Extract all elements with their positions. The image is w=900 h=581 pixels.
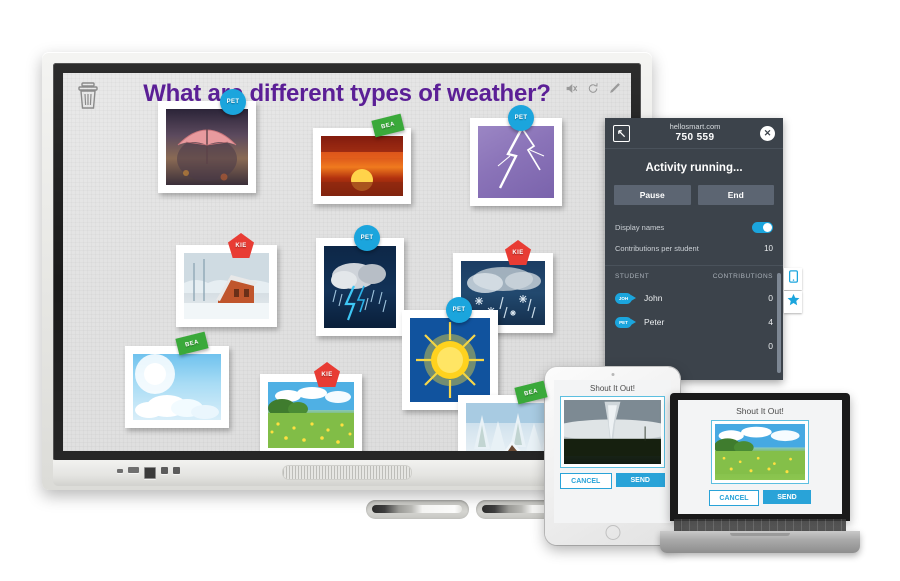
avatar: JOH xyxy=(615,293,632,304)
pen-slot-left[interactable] xyxy=(366,500,469,519)
photo-image xyxy=(268,382,354,448)
dialog-actions: CANCEL SEND xyxy=(560,473,665,489)
close-icon[interactable]: ✕ xyxy=(760,126,775,141)
whiteboard-screen[interactable]: What are different types of weather? xyxy=(63,73,631,451)
camera-icon xyxy=(611,373,614,376)
tablet-screen[interactable]: Shout It Out! CANCEL SEND xyxy=(554,380,671,523)
display-names-label: Display names xyxy=(615,223,664,232)
image-frame xyxy=(711,420,809,484)
photo-card-sunny-clouds[interactable]: BEA xyxy=(125,346,229,428)
stylus-pen-left[interactable] xyxy=(372,505,462,513)
sidebar-item-favorites[interactable] xyxy=(784,291,802,313)
refresh-icon[interactable] xyxy=(587,82,599,95)
port-usb-2 xyxy=(173,467,180,474)
image-frame xyxy=(560,396,665,468)
activity-panel-header: hellosmart.com 750 559 ✕ xyxy=(605,118,783,149)
cancel-button[interactable]: CANCEL xyxy=(560,473,612,489)
mobile-device-icon xyxy=(789,270,798,288)
activity-code: 750 559 xyxy=(630,132,760,143)
port-usb-1 xyxy=(161,467,168,474)
student-name: Peter xyxy=(644,317,768,327)
send-button[interactable]: SEND xyxy=(763,490,811,504)
student-contributions: 0 xyxy=(768,341,773,351)
column-student: STUDENT xyxy=(615,273,649,280)
student-tag: PET xyxy=(220,89,246,115)
photo-card-sunset[interactable]: BEA xyxy=(313,128,411,204)
photo-card-umbrella-rain[interactable]: PET xyxy=(158,101,256,193)
screenshot-root: What are different types of weather? xyxy=(0,0,900,581)
activity-panel[interactable]: hellosmart.com 750 559 ✕ Activity runnin… xyxy=(605,118,783,380)
activity-status: Activity running... xyxy=(605,149,783,185)
photo-card-lightning[interactable]: PET xyxy=(470,118,562,206)
port-vga xyxy=(144,467,156,479)
port-hdmi xyxy=(128,467,139,473)
photo-image xyxy=(324,246,396,328)
port-cluster xyxy=(117,467,180,479)
photo-image xyxy=(184,253,269,319)
student-contributions: 4 xyxy=(768,317,773,327)
expand-arrow-icon[interactable] xyxy=(613,125,630,142)
photo-image xyxy=(133,354,221,420)
contributions-label: Contributions per student xyxy=(615,244,699,253)
dialog-actions: CANCEL SEND xyxy=(709,490,811,506)
display-names-row[interactable]: Display names xyxy=(605,217,783,238)
student-tag: BEA xyxy=(175,332,208,356)
photo-image xyxy=(321,136,403,196)
sound-off-icon[interactable] xyxy=(565,82,578,95)
end-button[interactable]: End xyxy=(698,185,775,205)
photo-image xyxy=(410,318,490,402)
activity-code-block: hellosmart.com 750 559 xyxy=(630,123,760,143)
laptop-device: Shout It Out! xyxy=(660,393,860,553)
photo-card-snow-cabin[interactable]: KIE xyxy=(176,245,277,327)
home-button[interactable] xyxy=(605,525,620,540)
student-tag: KIE xyxy=(314,362,340,387)
dialog-title: Shout It Out! xyxy=(678,400,842,420)
activity-controls: Pause End xyxy=(605,185,783,217)
laptop-lid: Shout It Out! xyxy=(670,393,850,521)
send-button[interactable]: SEND xyxy=(616,473,666,487)
pause-button[interactable]: Pause xyxy=(614,185,691,205)
photo-image xyxy=(166,109,248,185)
avatar: PET xyxy=(615,317,632,328)
student-tag: PET xyxy=(446,297,472,323)
display-names-toggle[interactable] xyxy=(752,222,773,233)
star-icon xyxy=(787,293,800,311)
toggle-knob xyxy=(763,223,772,232)
photo-card-thunderstorm[interactable]: PET xyxy=(316,238,404,336)
tornado-image xyxy=(564,400,661,464)
sidebar-item-devices[interactable] xyxy=(784,268,802,290)
student-tag: BEA xyxy=(371,114,404,138)
student-tag: PET xyxy=(354,225,380,251)
cancel-button[interactable]: CANCEL xyxy=(709,490,759,506)
pencil-icon[interactable] xyxy=(608,82,621,95)
activity-url: hellosmart.com xyxy=(630,123,760,131)
dialog-title: Shout It Out! xyxy=(554,380,671,396)
meadow-image xyxy=(715,424,805,480)
port-audio xyxy=(117,469,123,473)
student-table-header: STUDENT CONTRIBUTIONS xyxy=(605,266,783,286)
student-name: John xyxy=(644,293,768,303)
student-tag: KIE xyxy=(228,233,254,258)
column-contributions: CONTRIBUTIONS xyxy=(713,273,773,280)
laptop-keyboard[interactable] xyxy=(674,519,846,531)
photo-card-dandelion-meadow[interactable]: KIE xyxy=(260,374,362,451)
student-tag: PET xyxy=(508,105,534,131)
table-row[interactable]: 0 xyxy=(605,334,783,358)
contributions-value: 10 xyxy=(764,244,773,253)
speaker-grille xyxy=(283,466,411,479)
contributions-row[interactable]: Contributions per student 10 xyxy=(605,238,783,259)
photo-image xyxy=(478,126,554,198)
student-tag: BEA xyxy=(514,381,547,405)
student-tag: KIE xyxy=(505,240,531,265)
table-row[interactable]: JOH John 0 xyxy=(605,286,783,310)
page-title: What are different types of weather? xyxy=(63,80,631,108)
laptop-screen[interactable]: Shout It Out! xyxy=(678,400,842,514)
trackpad-notch xyxy=(730,533,790,536)
student-contributions: 0 xyxy=(768,293,773,303)
scrollbar[interactable] xyxy=(777,273,781,373)
side-tab-strip xyxy=(784,268,802,314)
laptop-base xyxy=(660,531,860,553)
board-toolbar xyxy=(565,82,621,95)
table-row[interactable]: PET Peter 4 xyxy=(605,310,783,334)
